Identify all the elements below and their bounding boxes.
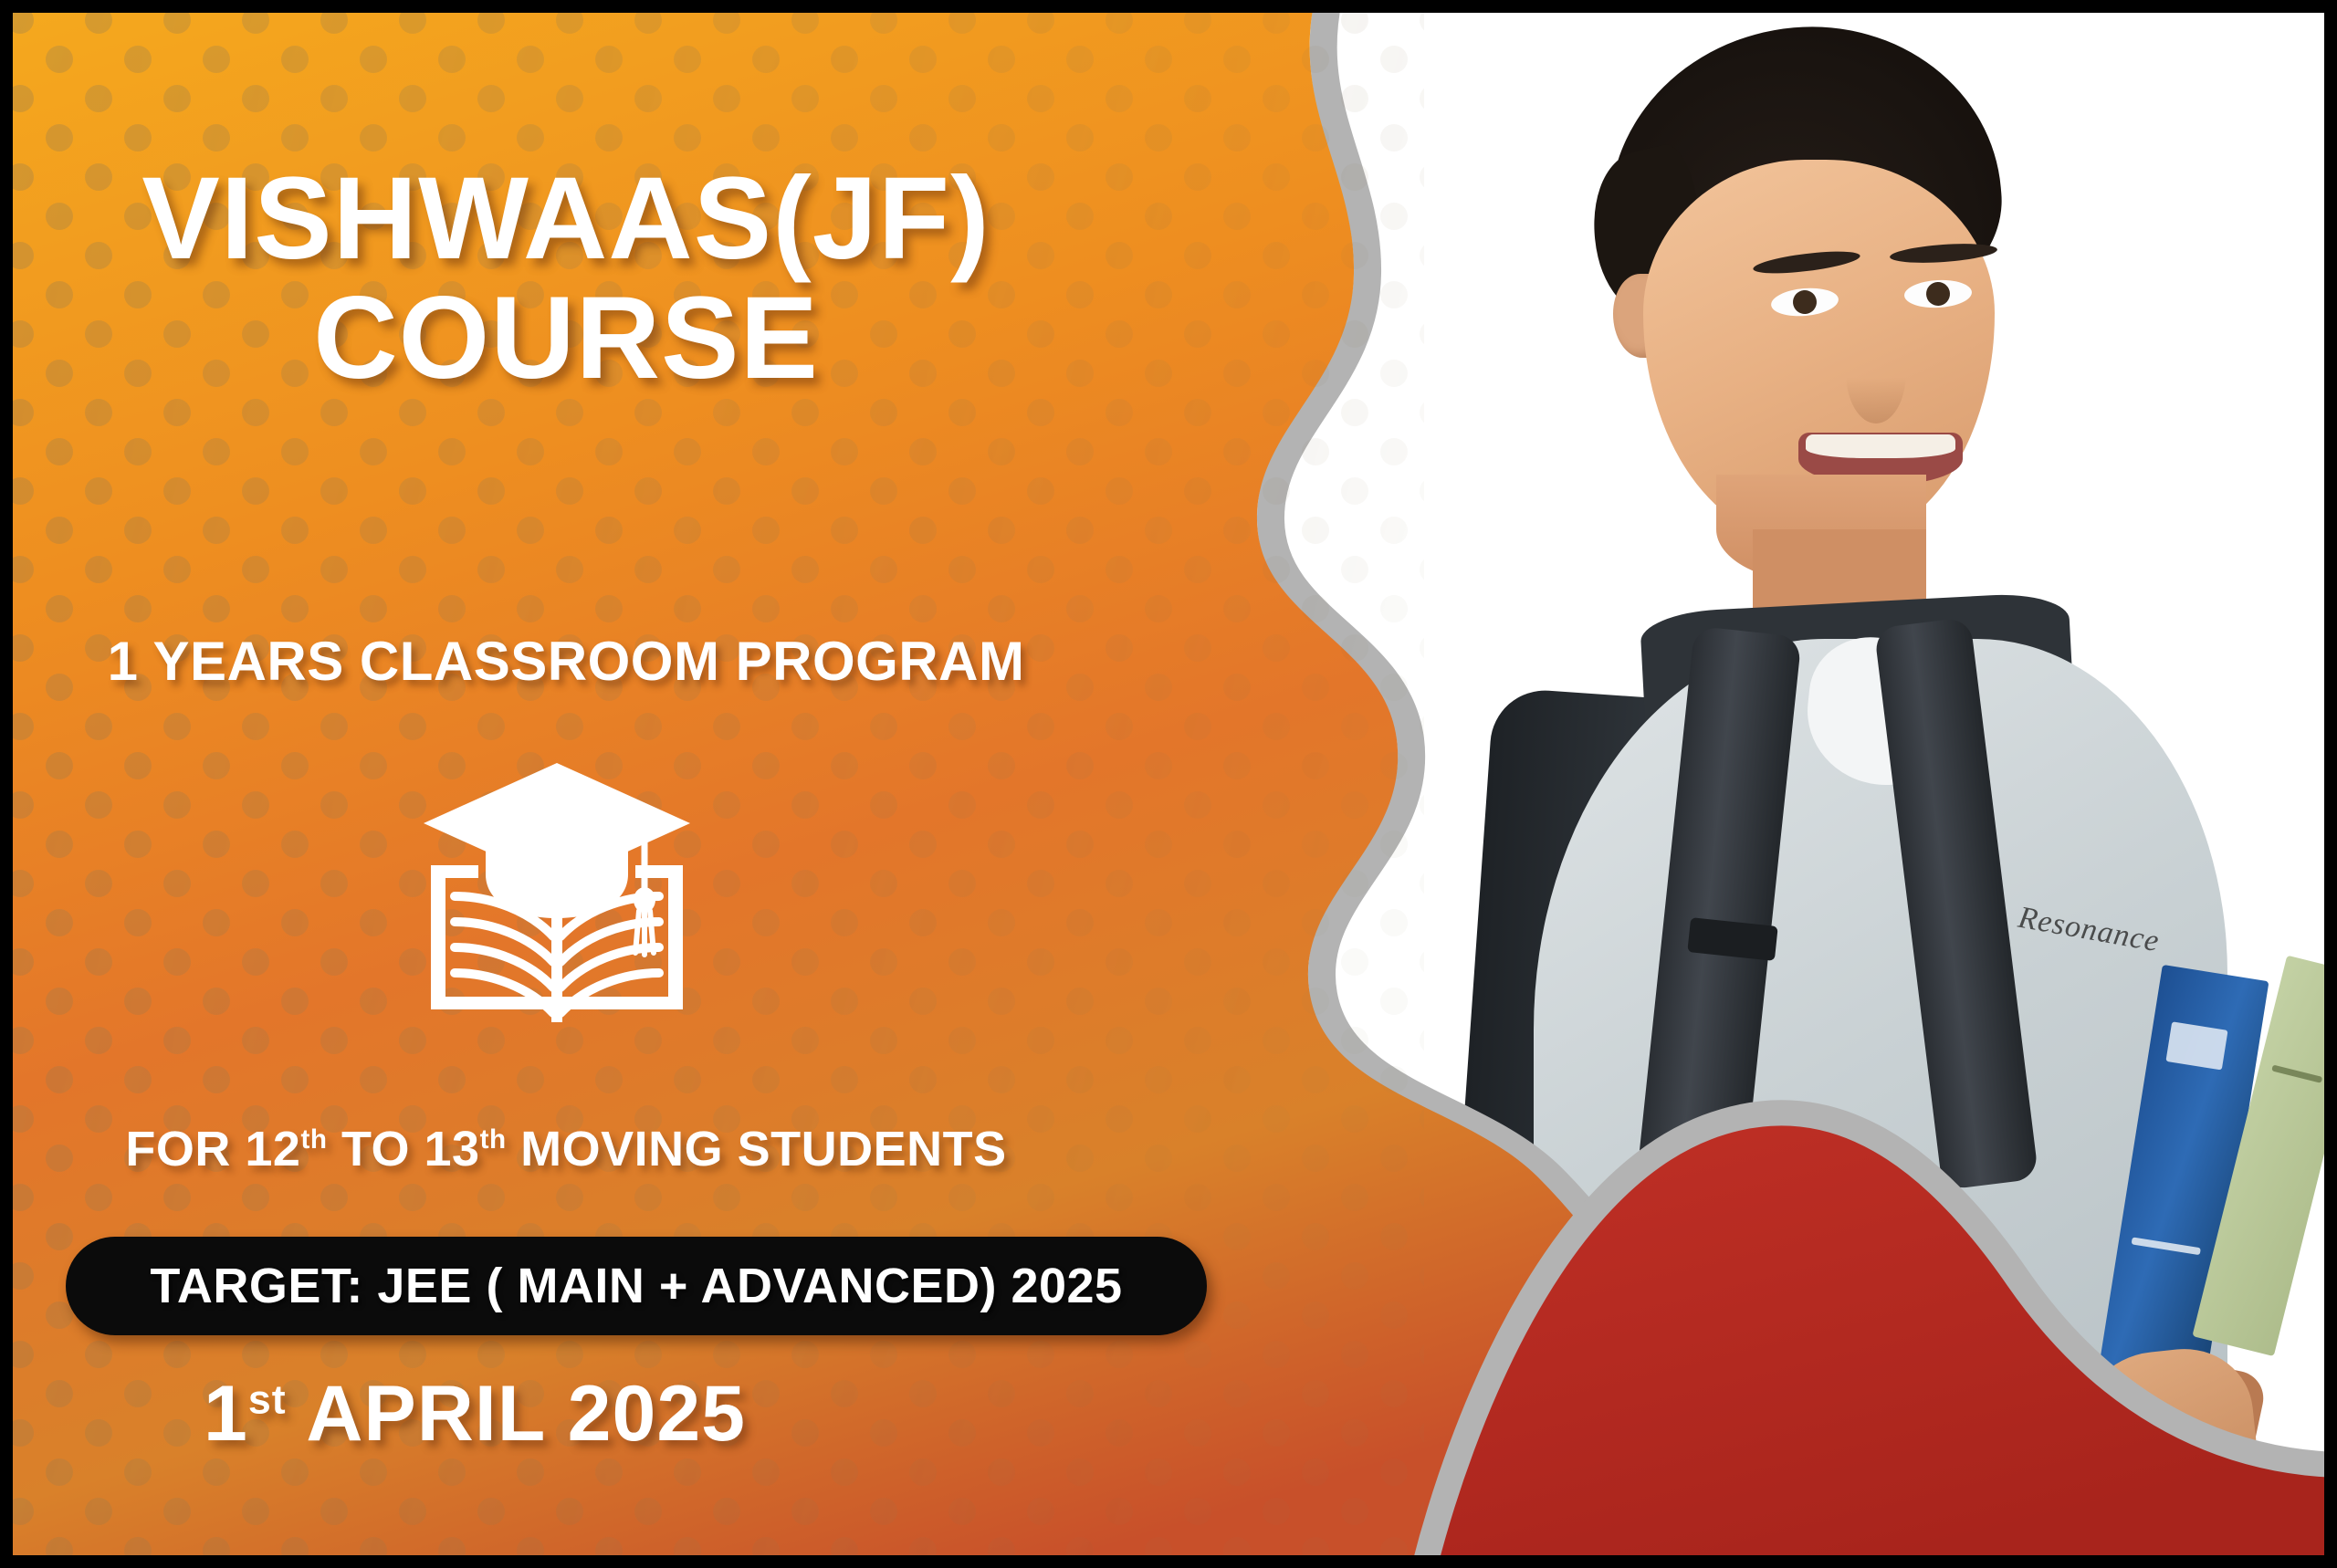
banner-content: VISHWAAS(JF) COURSE 1 YEARS CLASSROOM PR… (0, 0, 1296, 1568)
program-subtitle: 1 YEARS CLASSROOM PROGRAM (0, 630, 1132, 693)
title-line-2: COURSE (0, 279, 1132, 399)
audience-line: FOR 12th TO 13th MOVING STUDENTS (0, 1121, 1132, 1177)
audience-prefix: FOR 12 (125, 1122, 300, 1176)
audience-mid: TO 13 (327, 1122, 479, 1176)
promo-banner: Resonance (0, 0, 2337, 1568)
status-badge: TARGET: JEE ( MAIN + ADVANCED) 2025 (66, 1237, 1207, 1335)
date-rest: APRIL 2025 (287, 1370, 746, 1458)
audience-sup-2: th (480, 1124, 507, 1155)
target-badge-label: TARGET: JEE ( MAIN + ADVANCED) 2025 (150, 1258, 1122, 1314)
page-title: VISHWAAS(JF) COURSE (0, 160, 1132, 398)
graduation-cap-book-icon (0, 758, 1114, 1022)
date-day: 1 (204, 1370, 248, 1458)
start-date: 1st APRIL 2025 (0, 1369, 949, 1459)
date-ordinal-sup: st (248, 1377, 287, 1422)
title-line-1: VISHWAAS(JF) (141, 153, 990, 284)
audience-sup-1: th (300, 1124, 327, 1155)
audience-suffix: MOVING STUDENTS (507, 1122, 1007, 1176)
